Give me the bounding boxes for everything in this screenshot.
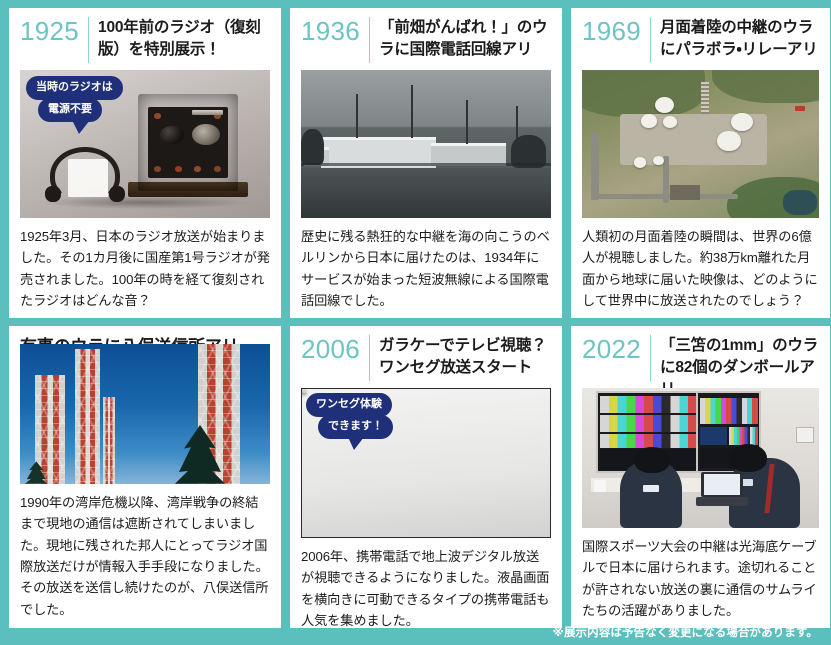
card-headline: 「前畑がんばれ！」のウラに国際電話回線アリ bbox=[379, 17, 551, 61]
red-roof-building bbox=[795, 106, 804, 112]
card-year: 2006 bbox=[301, 336, 369, 363]
paper-cup bbox=[594, 480, 606, 491]
tower-lattice bbox=[75, 349, 100, 483]
antenna-pole-2 bbox=[411, 85, 413, 138]
card-headline: 月面着陸の中継のウラにパラボラ・リレーアリ bbox=[660, 17, 819, 61]
tree-left bbox=[301, 129, 324, 165]
card-body-text: 2006年、携帯電話で地上波デジタル放送が視聴できるようになりました。液晶画面を… bbox=[301, 546, 551, 628]
antenna-pole-1 bbox=[356, 94, 358, 138]
card-year: 1936 bbox=[301, 18, 369, 45]
road-center bbox=[663, 156, 669, 203]
card-image-transmission-towers bbox=[20, 344, 270, 484]
waveform-monitor bbox=[700, 427, 727, 444]
horizon-line bbox=[301, 163, 551, 166]
photo-scene bbox=[301, 70, 551, 218]
header-divider bbox=[88, 17, 89, 63]
card-header: 1936 「前畑がんばれ！」のウラに国際電話回線アリ bbox=[301, 17, 551, 63]
radio-faceplate bbox=[148, 107, 228, 177]
uniform-stripe-right bbox=[765, 464, 775, 513]
radio-tuning-knob bbox=[160, 126, 184, 144]
card-image-flip-phones: ワンセグ体験 できます！ bbox=[301, 388, 551, 538]
card-header: 2006 ガラケーでテレビ視聴？ワンセグ放送スタート bbox=[301, 335, 551, 381]
test-pattern-large bbox=[700, 398, 758, 425]
card-body-text: 人類初の月面着陸の瞬間は、世界の6億人が視聴しました。約38万km離れた月面から… bbox=[582, 226, 819, 312]
radio-handle bbox=[192, 110, 222, 115]
radio-terminal-4 bbox=[175, 166, 182, 172]
radio-terminal-6 bbox=[214, 166, 221, 172]
disclaimer-note: ※展示内容は予告なく変更になる場合があります。 bbox=[553, 624, 818, 640]
pond bbox=[783, 190, 816, 215]
card-image-historic-station bbox=[301, 70, 551, 218]
photo-scene bbox=[582, 70, 819, 218]
radio-cabinet bbox=[138, 94, 238, 192]
facility-building bbox=[670, 185, 701, 200]
parabolic-dish-7 bbox=[653, 156, 664, 165]
card-body-text: 歴史に残る熱狂的な中継を海の向こうのベルリンから日本に届けたのは、1934年にサ… bbox=[301, 226, 551, 312]
radio-terminal-3 bbox=[154, 166, 161, 172]
card-body-text: 1990年の湾岸危機以降、湾岸戦争の終結まで現地の通信は遮断されてしまいました。… bbox=[20, 492, 270, 620]
speech-bubble-primary: 当時のラジオは bbox=[26, 76, 123, 100]
card-header: 有事のウラに八俣送信所アリ bbox=[20, 335, 270, 337]
engineer-right-head bbox=[729, 444, 767, 472]
laptop-keyboard bbox=[696, 497, 748, 505]
card-body-text: 1925年3月、日本のラジオ放送が始まりました。その1カ月後に国産第1号ラジオが… bbox=[20, 226, 270, 312]
photo-scene bbox=[20, 344, 270, 484]
card-year: 2022 bbox=[582, 336, 650, 363]
headphone-cup-right bbox=[109, 186, 125, 202]
header-divider bbox=[650, 17, 651, 63]
card-body-text: 国際スポーツ大会の中継は光海底ケーブルで日本に届けられます。途切れることが許され… bbox=[582, 536, 819, 622]
card-2022[interactable]: 2022 「三笘の1mm」のウラに82個のダンボールアリ bbox=[571, 326, 830, 628]
test-pattern-row-2 bbox=[600, 415, 698, 432]
hill-upper-right bbox=[712, 70, 819, 103]
card-year: 1969 bbox=[582, 18, 650, 45]
card-image-antique-radio: 当時のラジオは 電源不要 bbox=[20, 70, 270, 218]
tower-thin bbox=[103, 397, 116, 484]
ground-plane bbox=[301, 168, 551, 218]
parabolic-dish-3 bbox=[663, 116, 677, 128]
tower-center-left bbox=[75, 349, 100, 483]
laptop-lid bbox=[701, 472, 744, 497]
card-header: 2022 「三笘の1mm」のウラに82個のダンボールアリ bbox=[582, 335, 819, 381]
card-1969[interactable]: 1969 月面着陸の中継のウラにパラボラ・リレーアリ bbox=[571, 8, 830, 318]
speech-bubble-primary: ワンセグ体験 bbox=[306, 393, 392, 417]
road-left bbox=[591, 132, 598, 200]
speech-bubble-secondary: 電源不要 bbox=[38, 98, 102, 122]
phone-silver-screen bbox=[302, 389, 306, 393]
exhibit-panel-board: 1925 100年前のラジオ（復刻版）を特別展示！ bbox=[0, 0, 831, 645]
parabolic-dish-2 bbox=[641, 114, 656, 127]
radio-terminal-1 bbox=[154, 113, 161, 119]
parabolic-dish-6 bbox=[634, 157, 646, 167]
card-header: 1925 100年前のラジオ（復刻版）を特別展示！ bbox=[20, 17, 270, 63]
uniform-badge-left bbox=[643, 485, 659, 492]
card-header: 1969 月面着陸の中継のウラにパラボラ・リレーアリ bbox=[582, 17, 819, 63]
parabolic-dish-5 bbox=[717, 131, 741, 152]
header-divider bbox=[369, 335, 370, 381]
wall-thermostat bbox=[796, 427, 815, 443]
test-pattern-small bbox=[729, 427, 758, 444]
card-grid: 1925 100年前のラジオ（復刻版）を特別展示！ bbox=[9, 8, 822, 628]
test-pattern-row-3 bbox=[600, 434, 698, 448]
radio-terminal-5 bbox=[194, 166, 201, 172]
card-headline: ガラケーでテレビ視聴？ワンセグ放送スタート bbox=[379, 335, 551, 379]
card-year: 1925 bbox=[20, 18, 88, 45]
tower-lattice bbox=[103, 397, 116, 484]
engineer-left-head bbox=[634, 447, 670, 474]
headphone-cup-left bbox=[45, 186, 61, 202]
card-2006[interactable]: 2006 ガラケーでテレビ視聴？ワンセグ放送スタート bbox=[290, 326, 562, 628]
antenna-pole-3 bbox=[466, 100, 468, 144]
card-1936[interactable]: 1936 「前畑がんばれ！」のウラに国際電話回線アリ bbox=[290, 8, 562, 318]
laptop-screen bbox=[704, 474, 740, 495]
card-image-monitoring-room bbox=[582, 388, 819, 528]
test-pattern-row-1 bbox=[600, 396, 698, 413]
card-1925[interactable]: 1925 100年前のラジオ（復刻版）を特別展示！ bbox=[9, 8, 281, 318]
card-image-satellite-station bbox=[582, 70, 819, 218]
photo-scene: ワンセグ体験 できます！ bbox=[302, 389, 550, 537]
header-divider bbox=[369, 17, 370, 63]
hill-upper-left bbox=[582, 70, 705, 117]
header-divider bbox=[650, 335, 651, 381]
parabolic-dish-4 bbox=[731, 113, 752, 131]
headphones bbox=[50, 147, 120, 204]
card-headline: 100年前のラジオ（復刻版）を特別展示！ bbox=[98, 17, 270, 61]
lattice-tower bbox=[701, 82, 709, 115]
speech-bubble-secondary: できます！ bbox=[318, 415, 393, 439]
photo-scene: 当時のラジオは 電源不要 bbox=[20, 70, 270, 218]
photo-scene bbox=[582, 388, 819, 528]
radio-dial bbox=[192, 124, 219, 145]
card-yamata-transmission[interactable]: 有事のウラに八俣送信所アリ 1990年の湾岸危機以降、湾岸戦争の終結まで現地の通… bbox=[9, 326, 281, 628]
